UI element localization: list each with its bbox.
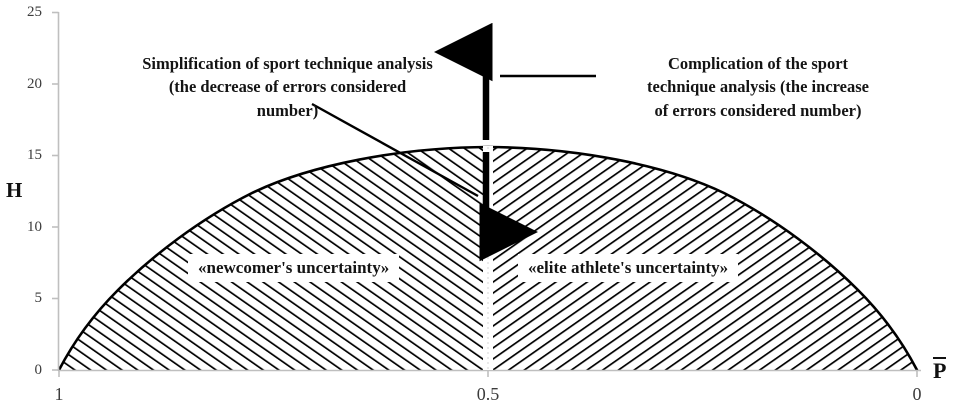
complication-annotation-line-3: of errors considered number) [608, 99, 908, 122]
x-tick-label-0: 0 [897, 385, 937, 403]
complication-annotation-line-1: Complication of the sport [608, 52, 908, 75]
simplification-annotation-line-3: number) [100, 99, 475, 122]
complication-annotation-line-2: technique analysis (the increase [608, 75, 908, 98]
right-region-label: «elite athlete's uncertainty» [518, 254, 738, 282]
x-axis-title-letter: P [933, 357, 946, 382]
x-tick-label-0-5: 0.5 [468, 385, 508, 403]
x-tick-label-1: 1 [39, 385, 79, 403]
simplification-annotation-line-1: Simplification of sport technique analys… [100, 52, 475, 75]
y-tick-label-10: 10 [12, 220, 42, 235]
simplification-annotation: Simplification of sport technique analys… [100, 52, 475, 122]
left-region-label: «newcomer's uncertainty» [188, 254, 399, 282]
entropy-uncertainty-chart: 25 20 15 10 5 0 H 1 0.5 0 P Simplificati… [0, 0, 959, 419]
x-axis-ticks [59, 371, 917, 378]
x-axis-title: P [933, 357, 946, 382]
y-tick-label-5: 5 [12, 291, 42, 306]
simplification-annotation-line-2: (the decrease of errors considered [100, 75, 475, 98]
complication-annotation: Complication of the sport technique anal… [608, 52, 908, 122]
y-tick-label-0: 0 [12, 363, 42, 378]
y-tick-label-25: 25 [12, 5, 42, 20]
y-tick-label-15: 15 [12, 148, 42, 163]
y-tick-label-20: 20 [12, 77, 42, 92]
y-axis-ticks [52, 13, 59, 371]
y-axis-title: H [6, 180, 22, 201]
